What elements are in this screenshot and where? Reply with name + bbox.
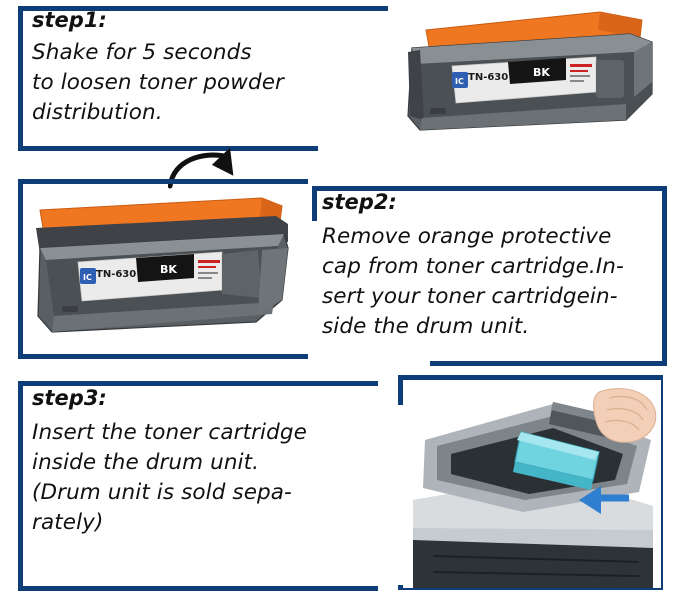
step1-line-1: Shake for 5 seconds	[32, 38, 372, 68]
step1-text: Shake for 5 seconds to loosen toner powd…	[32, 38, 372, 128]
step1-line-2: to loosen toner powder	[32, 68, 372, 98]
toner-cartridge-cap-removed-image: BK TN-630 IC	[26, 188, 306, 353]
toner-cartridge-with-orange-cap-image: BK TN-630 IC	[390, 8, 670, 158]
step2-line-2: cap from toner cartridge.In-	[322, 252, 667, 282]
step1-line-3: distribution.	[32, 98, 372, 128]
step2-frame-left	[312, 186, 317, 221]
step2-text: Remove orange protective cap from toner …	[322, 222, 667, 342]
step3-line-4: rately)	[32, 508, 382, 538]
step3-line-1: Insert the toner cartridge	[32, 418, 382, 448]
step2-frame-bottom	[430, 361, 667, 366]
step2-image-frame-bottom	[18, 354, 308, 359]
svg-text:BK: BK	[160, 263, 177, 276]
step3-line-3: (Drum unit is sold sepa-	[32, 478, 382, 508]
step2-label: step2:	[322, 190, 397, 214]
step2-line-1: Remove orange protective	[322, 222, 667, 252]
hand-inserting-cartridge-into-printer-image	[403, 380, 661, 588]
instruction-sheet: step1: Shake for 5 seconds to loosen ton…	[0, 0, 679, 602]
step2-image-frame-left	[18, 179, 23, 359]
step2-line-4: side the drum unit.	[322, 312, 667, 342]
svg-text:IC: IC	[455, 77, 464, 86]
cartridge-bottom-model-text: TN-630	[96, 269, 136, 280]
step3-frame-bottom	[18, 586, 378, 591]
step3-frame-left	[18, 381, 23, 591]
cartridge-top-model-text: TN-630	[468, 72, 508, 83]
svg-text:BK: BK	[533, 66, 550, 79]
step2-line-3: sert your toner cartridgein-	[322, 282, 667, 312]
step3-text: Insert the toner cartridge inside the dr…	[32, 418, 382, 538]
step2-image-frame-top	[18, 179, 308, 184]
step1-frame-left	[18, 6, 23, 151]
step3-line-2: inside the drum unit.	[32, 448, 382, 478]
step1-label: step1:	[32, 8, 107, 32]
step3-label: step3:	[32, 386, 107, 410]
svg-text:IC: IC	[83, 273, 92, 282]
